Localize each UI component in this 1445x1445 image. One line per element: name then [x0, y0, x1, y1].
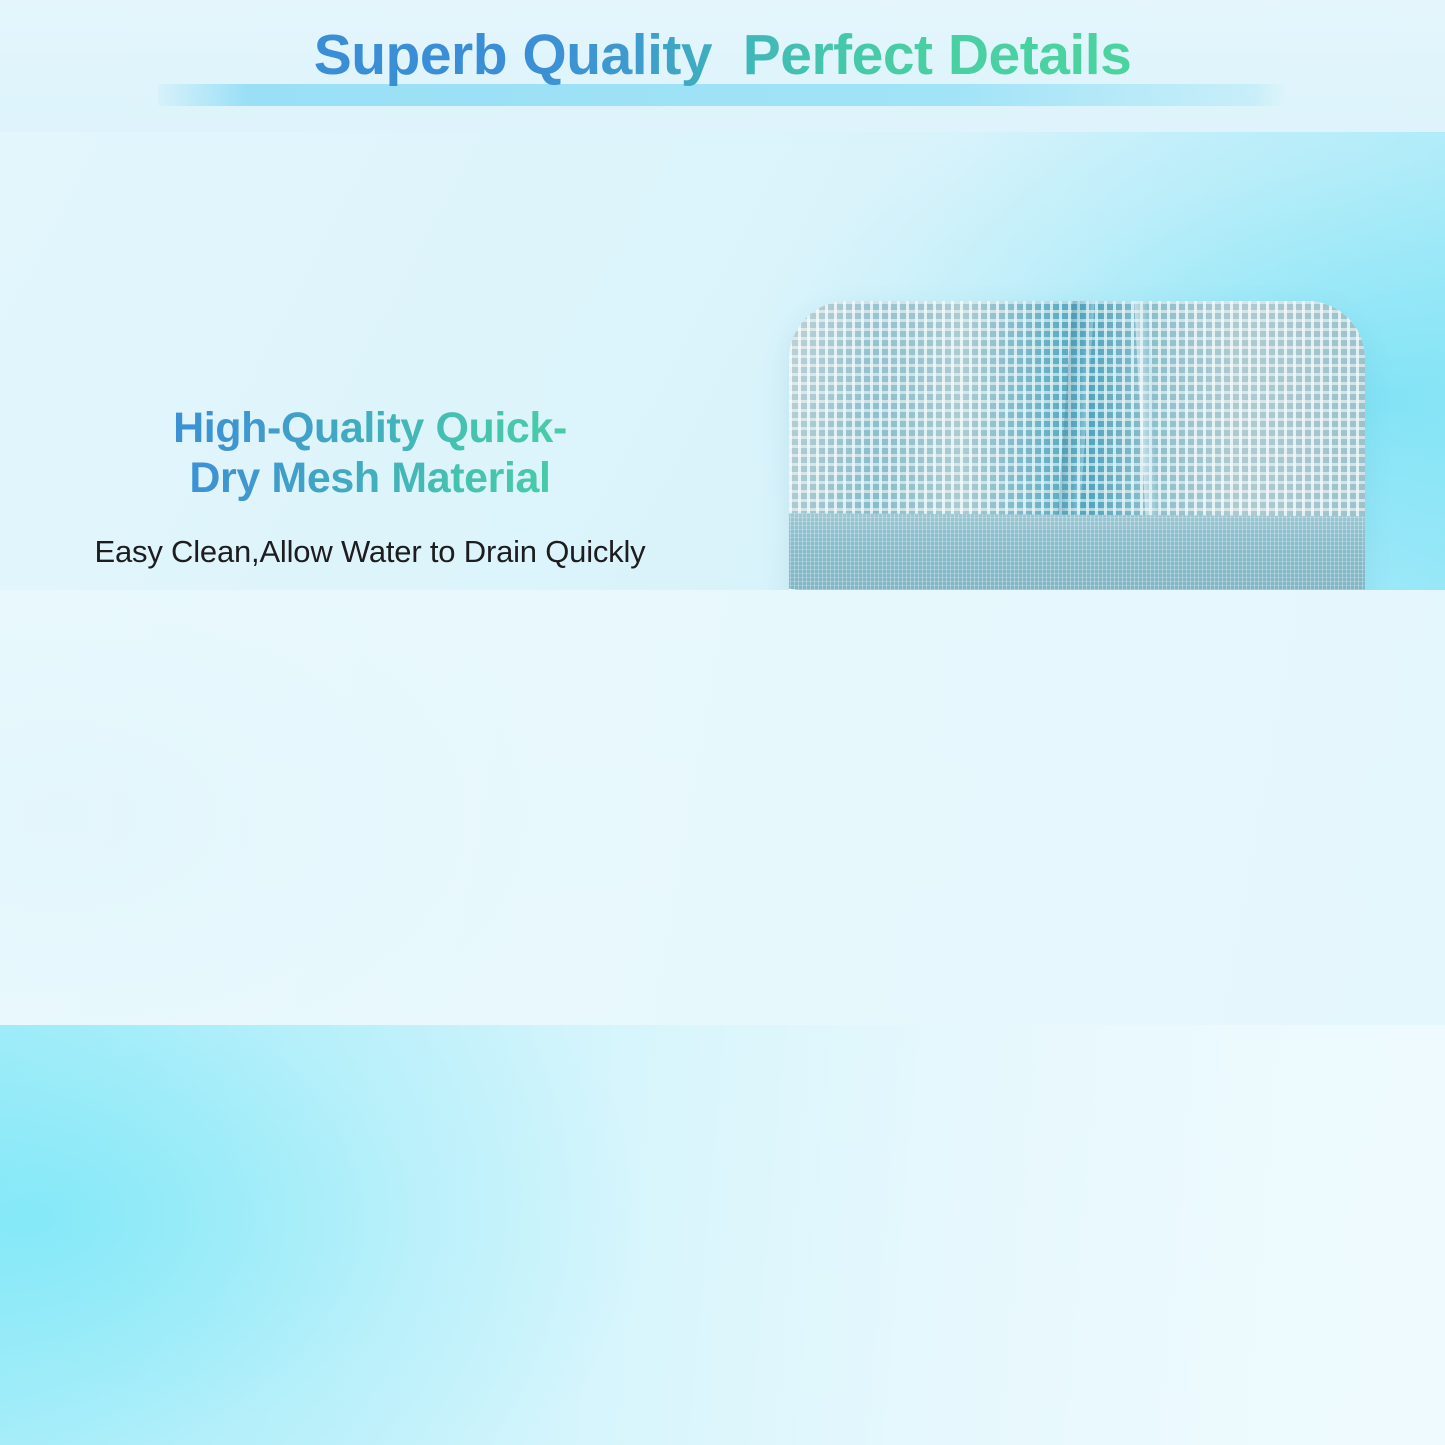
feature-panel-strong-handle: Reinforced Strong Handle Bear Weight Wit… — [0, 590, 1445, 1025]
header-banner: Superb Quality Perfect Details — [0, 0, 1445, 132]
page-title: Superb Quality Perfect Details — [314, 26, 1132, 86]
feature-text-mesh-material: High-Quality Quick- Dry Mesh Material Ea… — [0, 404, 740, 572]
feature-image-mesh-material — [789, 301, 1365, 590]
mesh-photo-content — [789, 301, 1365, 590]
mesh-bottom-binding-band — [789, 513, 1365, 590]
title-underline-bar — [158, 84, 1286, 106]
feature-panel-sewing-workmanship: Exquisite Sewing Workmanship Delicate an… — [0, 1025, 1445, 1445]
feature-panel-mesh-material: High-Quality Quick- Dry Mesh Material Ea… — [0, 132, 1445, 590]
feature-heading-mesh-material: High-Quality Quick- Dry Mesh Material — [0, 404, 740, 504]
infographic-page: Superb Quality Perfect Details High-Qual… — [0, 0, 1445, 1445]
page-title-wrap: Superb Quality Perfect Details — [0, 26, 1445, 86]
feature-subheading-mesh-material: Easy Clean,Allow Water to Drain Quickly — [0, 532, 740, 572]
